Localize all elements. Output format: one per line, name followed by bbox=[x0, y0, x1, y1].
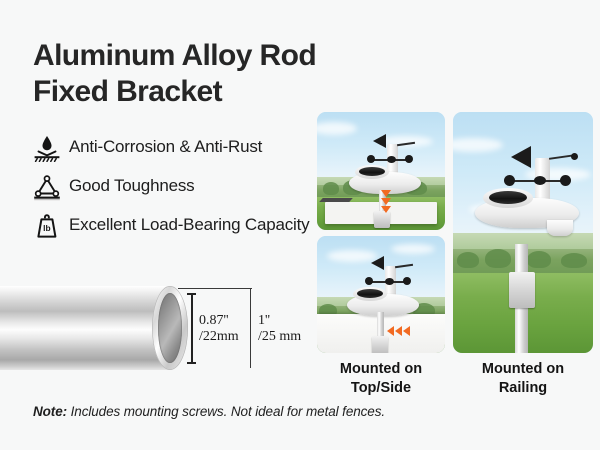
weather-station-device bbox=[341, 254, 427, 338]
feature-label: Good Toughness bbox=[69, 172, 194, 197]
feature-list: Anti-Corrosion & Anti-Rust Good Toughnes… bbox=[30, 133, 320, 250]
mounting-clamp bbox=[509, 272, 535, 308]
feature-item: Anti-Corrosion & Anti-Rust bbox=[30, 133, 320, 163]
inner-diameter-line bbox=[191, 293, 193, 364]
page-title: Aluminum Alloy Rod Fixed Bracket bbox=[33, 38, 383, 110]
title-line-1: Aluminum Alloy Rod bbox=[33, 38, 383, 74]
outer-ext-right bbox=[250, 288, 251, 368]
direction-arrow-down bbox=[381, 198, 391, 205]
photo-mounted-on-railing bbox=[453, 112, 593, 353]
direction-arrow-down bbox=[381, 190, 391, 197]
inner-diameter-label: 0.87'' /22mm bbox=[199, 313, 239, 345]
rod-body bbox=[0, 286, 172, 370]
caption-line-1: Mounted on bbox=[340, 361, 422, 377]
mounting-clamp bbox=[374, 211, 390, 228]
water-repellent-icon bbox=[30, 133, 64, 163]
svg-text:lb: lb bbox=[43, 223, 50, 233]
triangle-truss-icon bbox=[30, 172, 64, 202]
note-prefix: Note: bbox=[33, 404, 67, 419]
direction-arrow-left bbox=[395, 326, 402, 336]
rod-inner-bore bbox=[158, 293, 182, 363]
caption-line-2: Top/Side bbox=[351, 380, 411, 396]
caption-line-2: Railing bbox=[499, 380, 547, 396]
outer-ext-top bbox=[178, 288, 252, 289]
feature-item: lb Excellent Load-Bearing Capacity bbox=[30, 211, 320, 241]
aluminum-rod-illustration bbox=[0, 286, 190, 370]
weight-lb-icon: lb bbox=[30, 211, 64, 241]
caption-mounted-railing: Mounted on Railing bbox=[453, 360, 593, 398]
mounting-clamp bbox=[372, 336, 388, 353]
feature-item: Good Toughness bbox=[30, 172, 320, 202]
direction-arrow-down bbox=[381, 206, 391, 213]
photo-mounted-on-side bbox=[317, 236, 445, 353]
direction-arrow-left bbox=[387, 326, 394, 336]
feature-label: Excellent Load-Bearing Capacity bbox=[69, 211, 309, 236]
photo-mounted-on-top bbox=[317, 112, 445, 230]
note-body: Includes mounting screws. Not ideal for … bbox=[71, 404, 385, 419]
outer-diameter-label: 1'' /25 mm bbox=[258, 313, 301, 345]
note-text: Note: Includes mounting screws. Not idea… bbox=[33, 404, 385, 419]
product-feature-card: Aluminum Alloy Rod Fixed Bracket bbox=[0, 0, 600, 450]
title-line-2: Fixed Bracket bbox=[33, 74, 383, 110]
caption-mounted-top-side: Mounted on Top/Side bbox=[317, 360, 445, 398]
direction-arrow-left bbox=[403, 326, 410, 336]
caption-line-1: Mounted on bbox=[482, 361, 564, 377]
feature-label: Anti-Corrosion & Anti-Rust bbox=[69, 133, 262, 158]
weather-station-device bbox=[471, 140, 589, 250]
